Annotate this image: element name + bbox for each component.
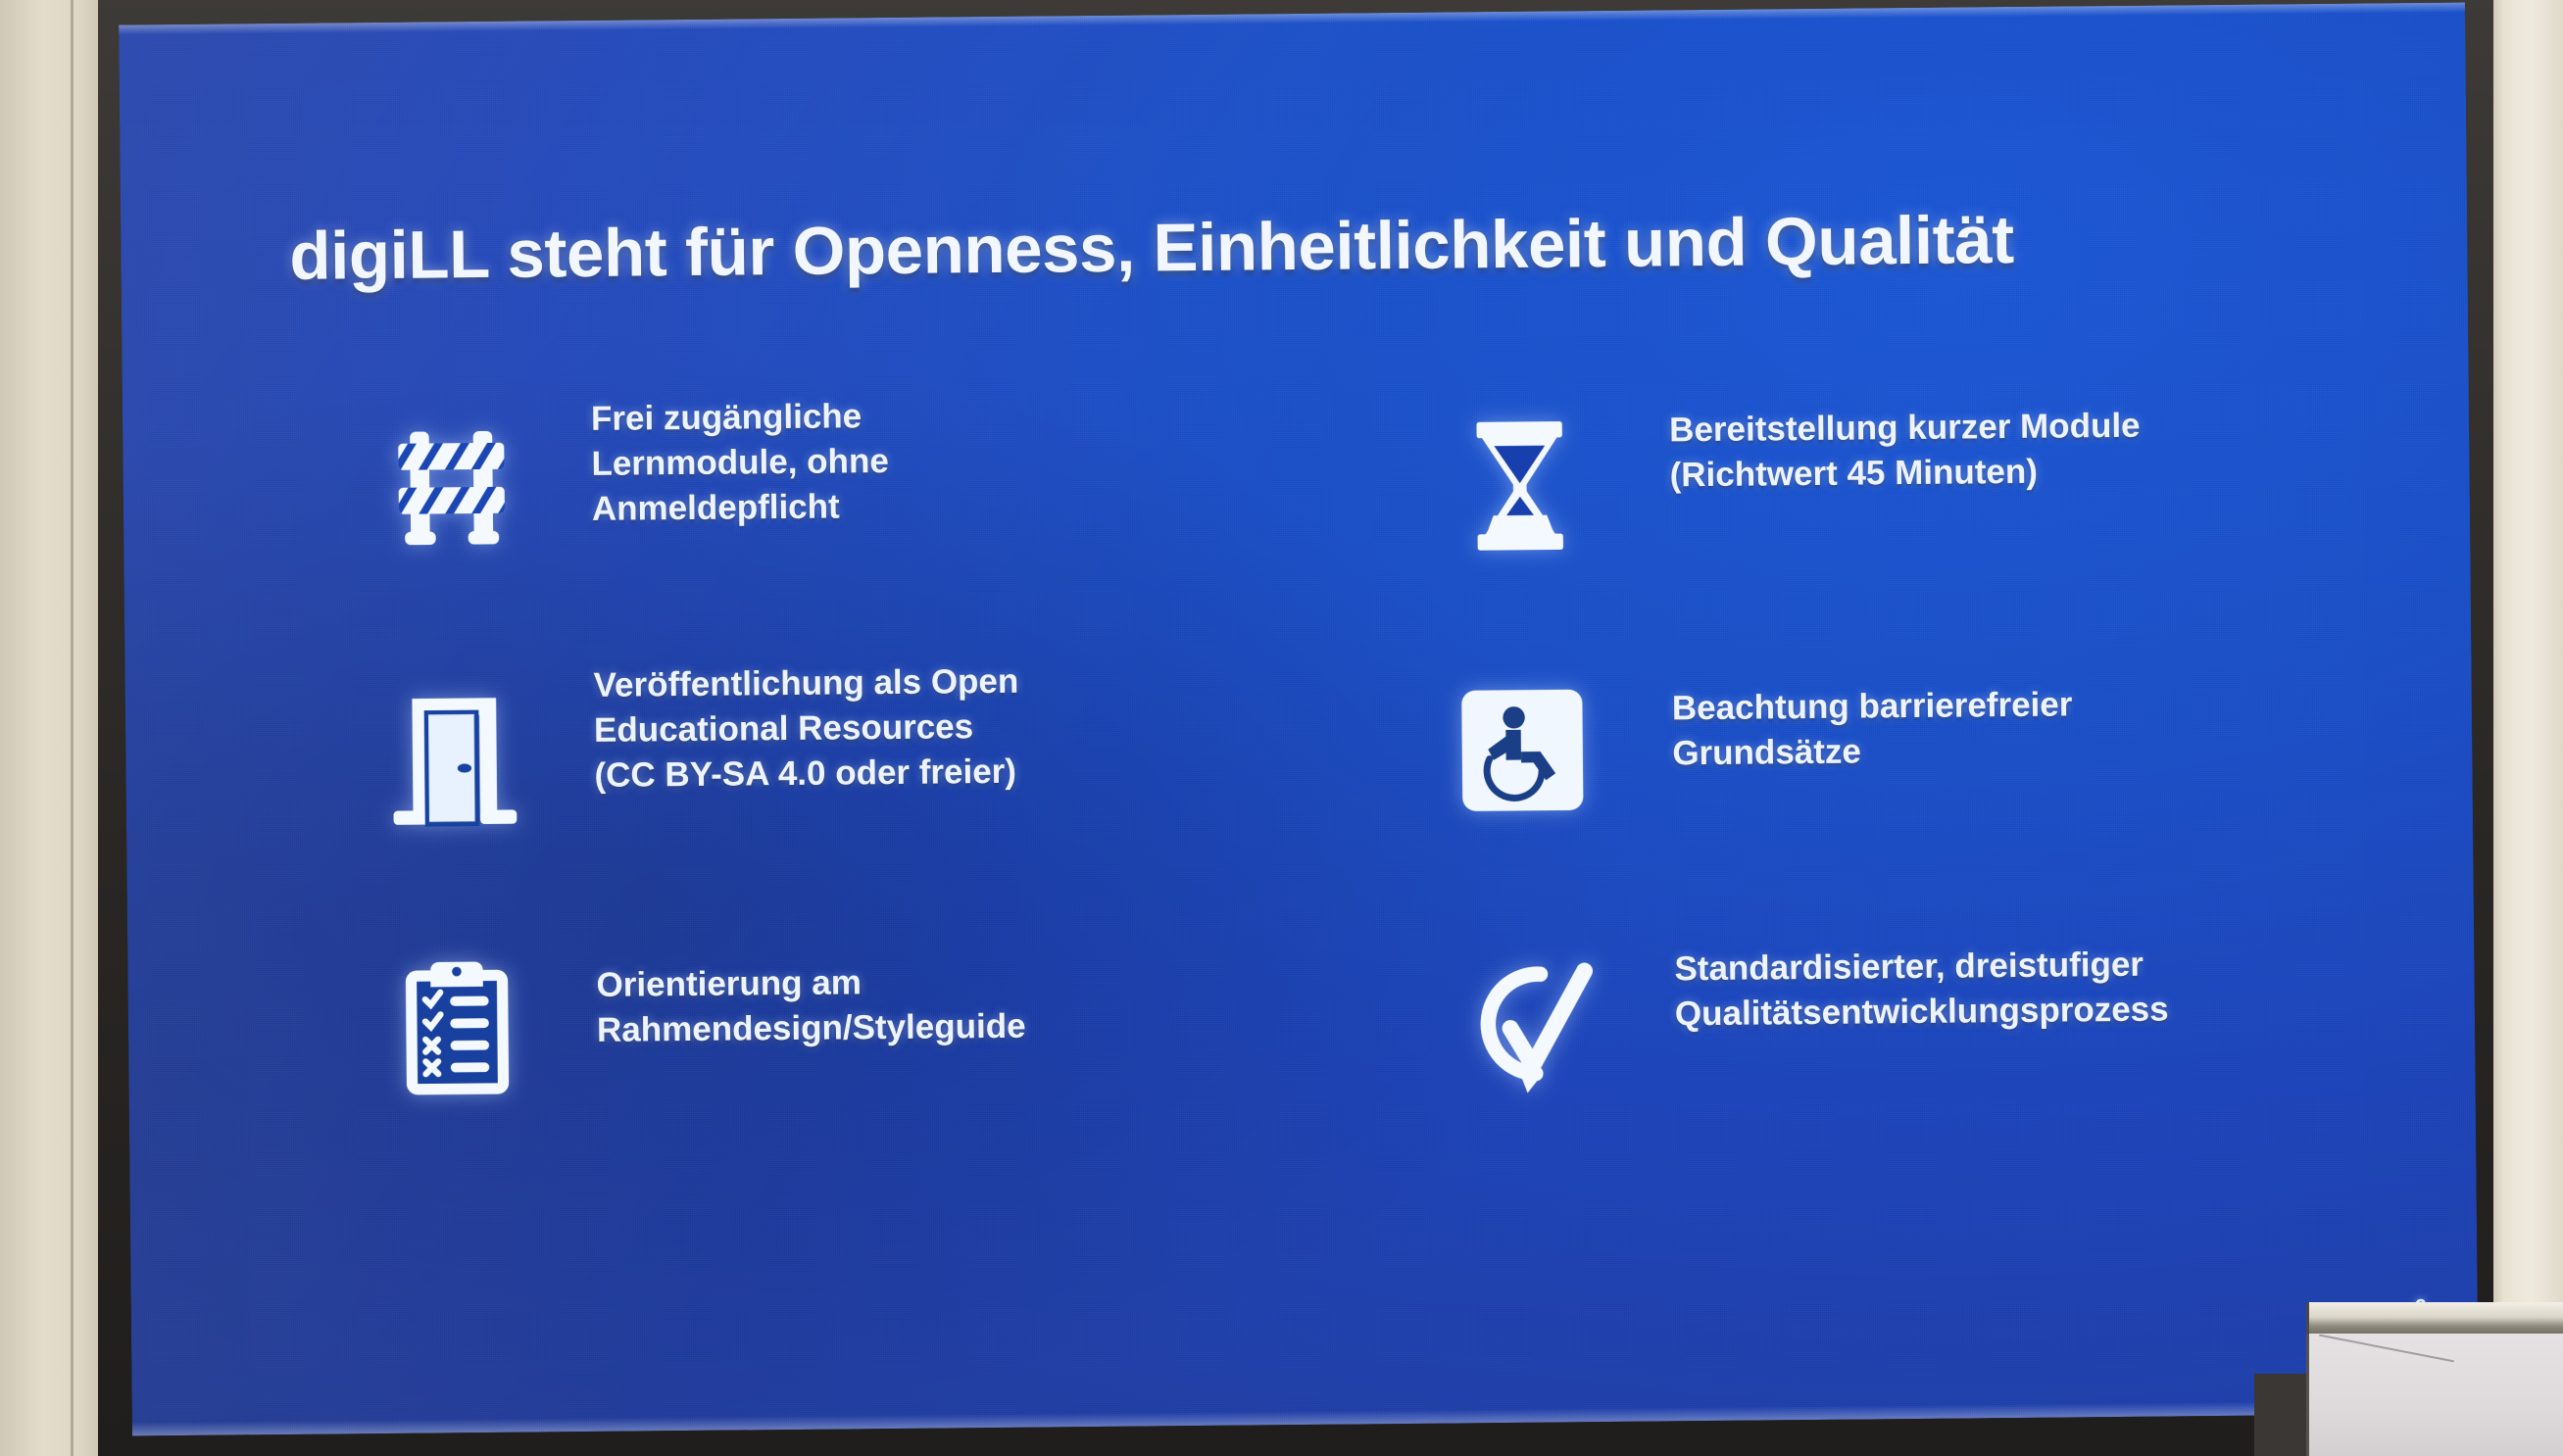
feature-item-rahmendesign-styleguide: Orientierung am Rahmendesign/Styleguide (363, 922, 1404, 1179)
feature-row-3: Orientierung am Rahmendesign/Styleguide (274, 912, 2413, 1180)
feature-line: Lernmodule, ohne (591, 439, 889, 487)
feature-line: Veröffentlichung als Open (593, 659, 1018, 708)
feature-text: Bereitstellung kurzer Module (Richtwert … (1669, 378, 2141, 499)
feature-line: Anmeldepflicht (592, 484, 890, 532)
clipboard-checklist-icon (363, 930, 551, 1128)
feature-grid: Frei zugängliche Lernmodule, ohne Anmeld… (270, 375, 2414, 1209)
feature-line: Grundsätze (1672, 728, 2073, 777)
hourglass-icon (1426, 383, 1614, 581)
wall-left-strip (0, 0, 106, 1456)
feature-line: (Richtwert 45 Minuten) (1669, 449, 2141, 499)
slide-content: digiLL steht für Openness, Einheitlichke… (119, 3, 2479, 1436)
feature-line: Rahmendesign/Styleguide (597, 1004, 1026, 1053)
feature-row-1: Frei zugängliche Lernmodule, ohne Anmeld… (270, 375, 2408, 643)
feature-item-frei-zugaengliche-lernmodule: Frei zugängliche Lernmodule, ohne Anmeld… (358, 385, 1399, 642)
feature-text: Veröffentlichung als Open Educational Re… (593, 657, 1019, 800)
feature-item-veroeffentlichung-oer: Veröffentlichung als Open Educational Re… (360, 654, 1401, 910)
feature-item-bereitstellung-kurzer-module: Bereitstellung kurzer Module (Richtwert … (1426, 375, 2408, 632)
feature-line: Educational Resources (594, 704, 1019, 753)
wheelchair-accessibility-icon (1428, 652, 1616, 849)
feature-line: Bereitstellung kurzer Module (1669, 404, 2141, 454)
feature-line: (CC BY-SA 4.0 oder freier) (594, 750, 1019, 799)
slide-background: digiLL steht für Openness, Einheitlichke… (119, 3, 2479, 1436)
feature-line: Orientierung am (596, 959, 1025, 1008)
flipchart-sheet (2306, 1334, 2563, 1456)
feature-line: Standardisierter, dreistufiger (1674, 942, 2168, 992)
open-door-icon (360, 661, 548, 859)
road-barrier-icon (358, 385, 546, 583)
feature-item-barrierefreiheit: Beachtung barrierefreier Grundsätze (1428, 644, 2410, 900)
screen-bottom-right-shadow (2254, 1374, 2311, 1456)
feature-line: Frei zugängliche (591, 394, 889, 442)
cycle-check-icon (1431, 926, 1619, 1124)
feature-line: Beachtung barrierefreier (1672, 682, 2073, 731)
feature-text: Standardisierter, dreistufiger Qualitäts… (1674, 914, 2169, 1037)
slide-title: digiLL steht für Openness, Einheitlichke… (289, 198, 2280, 294)
meeting-room-scene: digiLL steht für Openness, Einheitlichke… (0, 0, 2563, 1456)
feature-item-qualitaetsentwicklungsprozess: Standardisierter, dreistufiger Qualitäts… (1431, 912, 2413, 1169)
flipchart-rail (2306, 1302, 2563, 1335)
projected-slide: digiLL steht für Openness, Einheitlichke… (119, 3, 2479, 1436)
feature-text: Orientierung am Rahmendesign/Styleguide (596, 926, 1026, 1054)
feature-row-2: Veröffentlichung als Open Educational Re… (271, 644, 2410, 911)
flipchart-foreground-object (2306, 1302, 2563, 1456)
wall-right-strip (2484, 0, 2563, 1456)
feature-text: Beachtung barrierefreier Grundsätze (1671, 647, 2073, 776)
feature-text: Frei zugängliche Lernmodule, ohne Anmeld… (591, 390, 890, 532)
feature-line: Qualitätsentwicklungsprozess (1675, 988, 2169, 1038)
